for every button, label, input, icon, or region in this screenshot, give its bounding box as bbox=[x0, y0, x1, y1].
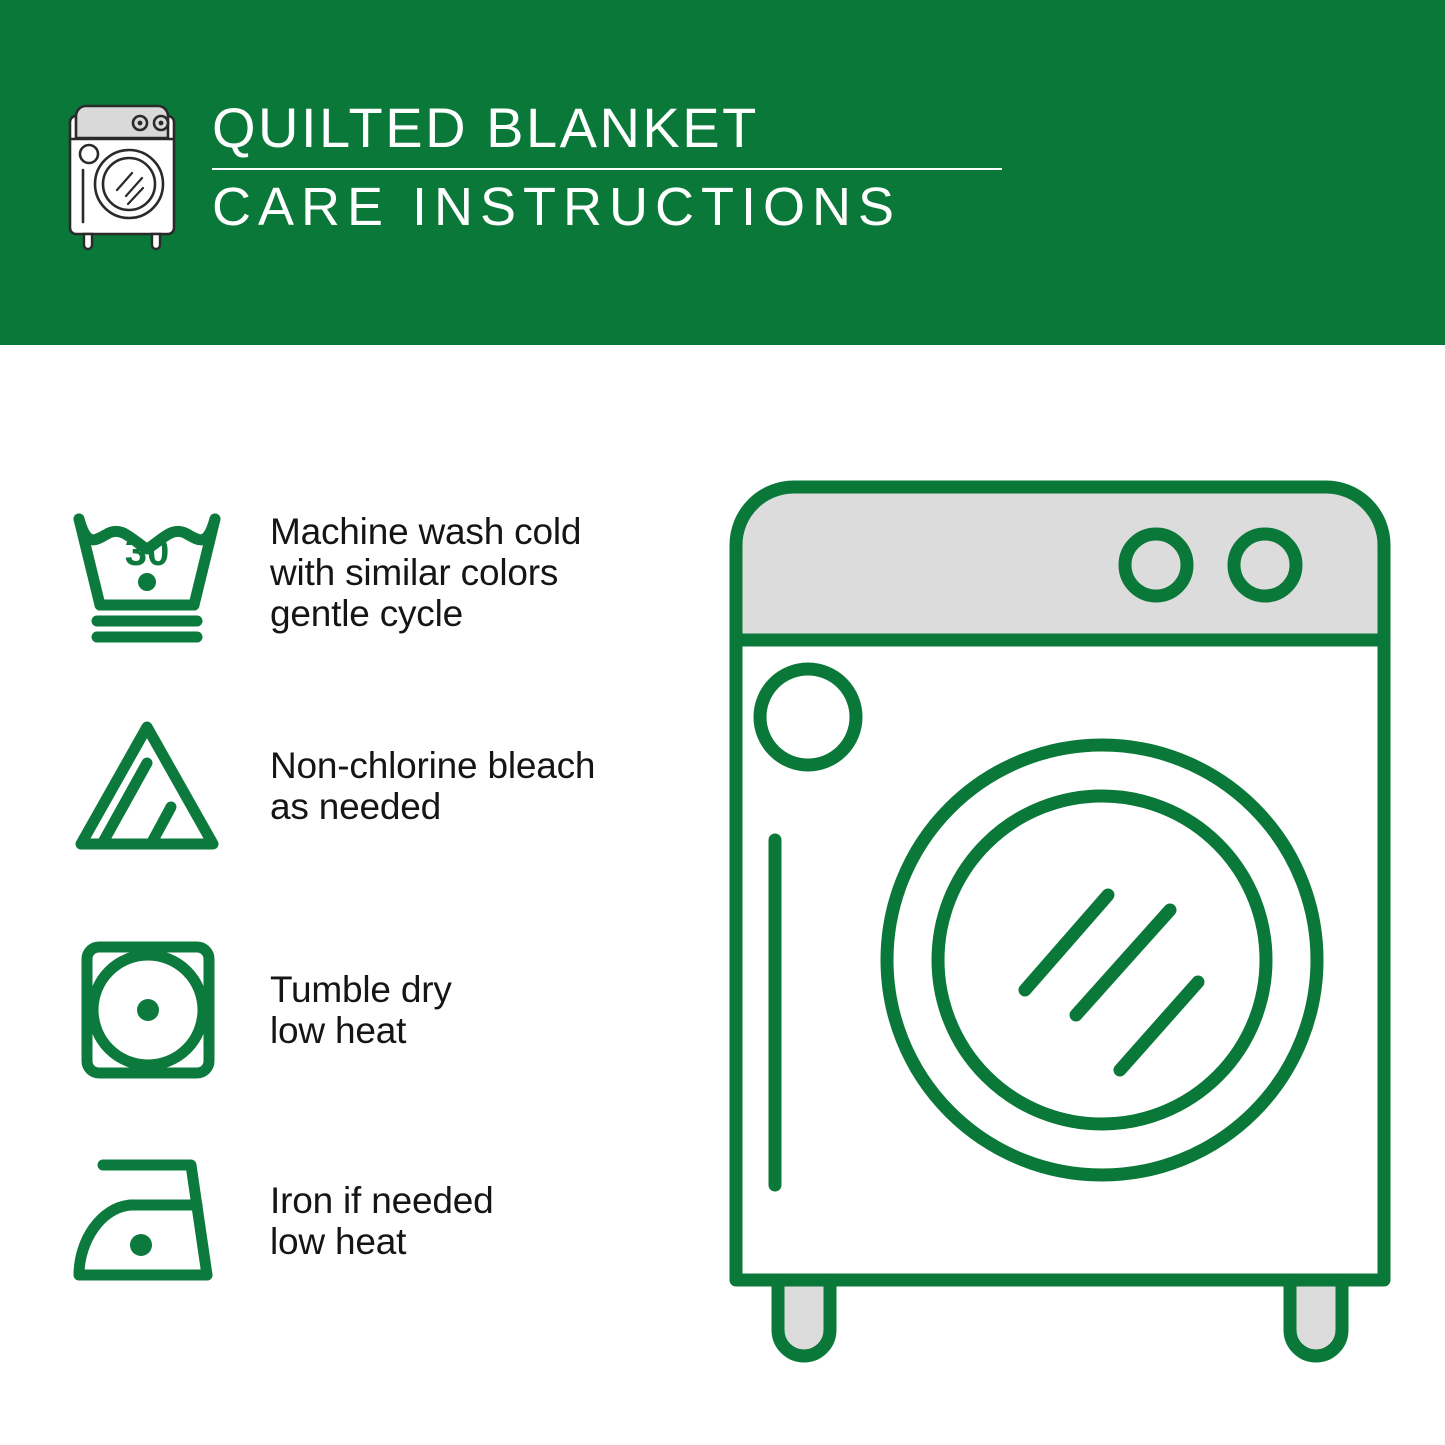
door-inner-ring bbox=[938, 796, 1266, 1124]
page-title: QUILTED BLANKET bbox=[212, 98, 1002, 158]
care-row-machine-wash: 30 Machine wash cold with similar colors… bbox=[62, 492, 682, 652]
care-text-machine-wash: Machine wash cold with similar colors ge… bbox=[270, 511, 581, 634]
detergent-dispenser bbox=[760, 669, 856, 765]
care-text-iron: Iron if needed low heat bbox=[270, 1180, 493, 1262]
care-row-bleach: Non-chlorine bleach as needed bbox=[62, 706, 682, 866]
care-row-iron: Iron if needed low heat bbox=[62, 1146, 682, 1296]
leg-right bbox=[1290, 1280, 1342, 1356]
washing-machine-icon bbox=[62, 98, 182, 253]
title-block: QUILTED BLANKET CARE INSTRUCTIONS bbox=[212, 96, 1002, 236]
care-instructions-page: QUILTED BLANKET CARE INSTRUCTIONS 30 bbox=[0, 0, 1445, 1445]
leg-left bbox=[778, 1280, 830, 1356]
page-subtitle: CARE INSTRUCTIONS bbox=[212, 178, 1002, 236]
care-text-bleach: Non-chlorine bleach as needed bbox=[270, 745, 595, 827]
care-text-tumble-dry: Tumble dry low heat bbox=[270, 969, 452, 1051]
header-band: QUILTED BLANKET CARE INSTRUCTIONS bbox=[0, 0, 1445, 345]
wash-temperature-label: 30 bbox=[125, 530, 170, 574]
header-content: QUILTED BLANKET CARE INSTRUCTIONS bbox=[62, 96, 1002, 261]
title-divider bbox=[212, 168, 1002, 170]
washing-machine-illustration bbox=[720, 470, 1400, 1370]
tumble-dry-icon bbox=[62, 930, 232, 1090]
knob-right bbox=[1234, 534, 1296, 596]
wash-tub-30-icon: 30 bbox=[62, 492, 232, 652]
knob-left bbox=[1125, 534, 1187, 596]
bleach-triangle-icon bbox=[62, 706, 232, 866]
iron-icon bbox=[62, 1141, 232, 1301]
care-row-tumble-dry: Tumble dry low heat bbox=[62, 930, 682, 1090]
